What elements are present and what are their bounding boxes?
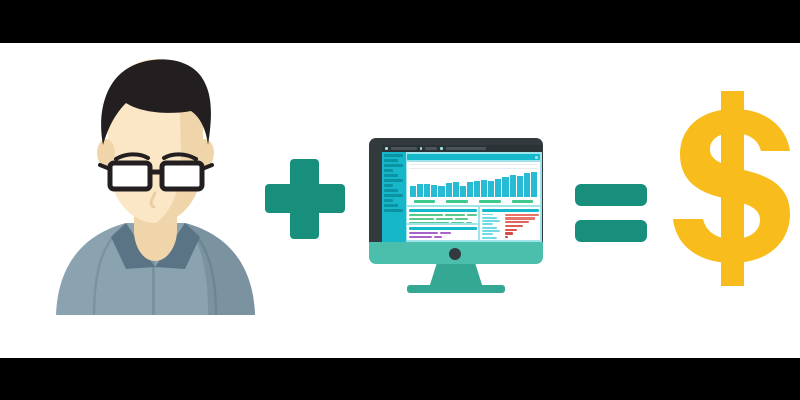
dashboard-main [406,152,542,242]
letterbox-bar-top [0,0,800,43]
dollar-sign-icon [672,91,792,286]
funnel-list-row [482,223,494,225]
dashboard-sidebar [382,152,406,242]
bar-9 [467,182,473,197]
monitor-stand-base [407,285,505,293]
data-bar [451,222,463,224]
data-bar [409,236,432,239]
sidebar-item[interactable] [384,174,398,177]
sidebar-item[interactable] [384,189,398,192]
titlebar-url-strip[interactable] [446,147,486,150]
bar-10 [474,181,480,197]
panel-header [409,209,477,213]
bar-15 [510,175,516,197]
bar-16 [517,176,523,197]
data-bar [436,218,452,221]
panel-header [482,209,539,213]
bar-14 [502,177,508,197]
monitor-logo-dot [449,248,461,260]
funnel-list-row [482,220,500,222]
purple-data-panel [407,225,478,240]
funnel-list-row [482,227,497,229]
computer-monitor [363,138,549,293]
equals-icon [575,184,647,242]
funnel-bar-6 [505,232,512,234]
data-bar [409,232,439,235]
dashboard-lower-panels [407,207,540,240]
bar-5 [438,186,444,197]
bar-12 [488,181,494,197]
data-bar [467,214,476,217]
bar-13 [495,179,501,197]
sidebar-item[interactable] [384,204,398,207]
sidebar-item[interactable] [384,169,393,172]
titlebar-tab-strip[interactable] [425,147,437,150]
chart-gridline [409,168,538,169]
monitor-screen [382,145,542,242]
sidebar-item[interactable] [384,199,393,202]
bar-17 [524,173,530,197]
funnel-list-row [482,233,494,235]
data-bar [455,218,469,221]
bar-11 [481,180,487,197]
legend-segment-1 [409,200,440,203]
funnel-list [482,214,504,239]
bar-6 [446,183,452,197]
data-row [409,214,477,217]
bar-7 [453,182,459,197]
data-row [409,232,477,235]
letterbox-bar-bottom [0,358,800,400]
bar-chart-bars [409,172,538,197]
data-row [409,222,477,224]
funnel-bar-5 [505,229,517,231]
legend-chip [414,200,436,203]
funnel-list-row [482,214,494,216]
bar-4 [431,185,437,197]
plus-vertical-bar [290,159,319,239]
chart-gridline [409,164,538,165]
legend-segment-2 [442,200,473,203]
bar-8 [460,186,466,197]
sidebar-item[interactable] [384,154,403,157]
bar-1 [410,186,416,197]
sidebar-item[interactable] [384,209,403,212]
data-bar [409,214,444,217]
data-bar [445,214,465,217]
person-illustration [48,55,263,315]
funnel-chart-panel [480,207,540,240]
data-bar [409,222,450,224]
sidebar-item[interactable] [384,194,403,197]
monitor-bezel [369,138,543,248]
left-panel-stack [407,207,478,240]
sidebar-item[interactable] [384,164,403,167]
data-bar [466,222,473,224]
funnel-list-row [482,237,497,239]
titlebar-dot [420,147,423,150]
sidebar-item[interactable] [384,179,403,182]
scene-canvas [0,0,800,400]
panel-header [409,227,477,231]
data-bar [409,218,435,221]
funnel-bar-4 [505,225,522,227]
sidebar-item[interactable] [384,184,393,187]
funnel-bar-2 [505,217,534,219]
legend-chip [512,200,534,203]
illustration-area [0,43,800,358]
titlebar-tab-strip[interactable] [391,147,417,150]
purple-panel-rows [409,232,477,240]
bar-2 [417,184,423,197]
green-data-panel [407,207,478,223]
legend-segment-4 [507,200,538,203]
funnel-bar-3 [505,221,528,223]
equals-bar-top [575,184,647,206]
dashboard-toolbar[interactable] [407,154,540,160]
data-bar [434,236,442,239]
plus-icon [265,159,345,239]
bar-chart-legend [409,197,538,205]
titlebar-dot [385,147,388,150]
equals-bar-bottom [575,220,647,242]
titlebar-dot [440,147,443,150]
legend-chip [479,200,501,203]
browser-titlebar [382,145,542,152]
bar-chart-card [407,162,540,205]
data-row [409,218,477,221]
data-row [409,236,477,239]
funnel-bar-7 [505,236,508,238]
bar-18 [531,172,537,197]
funnel-chart-area [482,214,539,239]
data-bar [440,232,451,235]
funnel-bars [505,214,538,239]
funnel-list-row [482,230,500,232]
funnel-bar-1 [505,214,538,216]
legend-chip [446,200,468,203]
dashboard-body [382,152,542,242]
sidebar-item[interactable] [384,159,398,162]
funnel-list-row [482,217,497,219]
legend-segment-3 [475,200,506,203]
green-panel-rows [409,214,477,224]
bar-3 [424,184,430,197]
